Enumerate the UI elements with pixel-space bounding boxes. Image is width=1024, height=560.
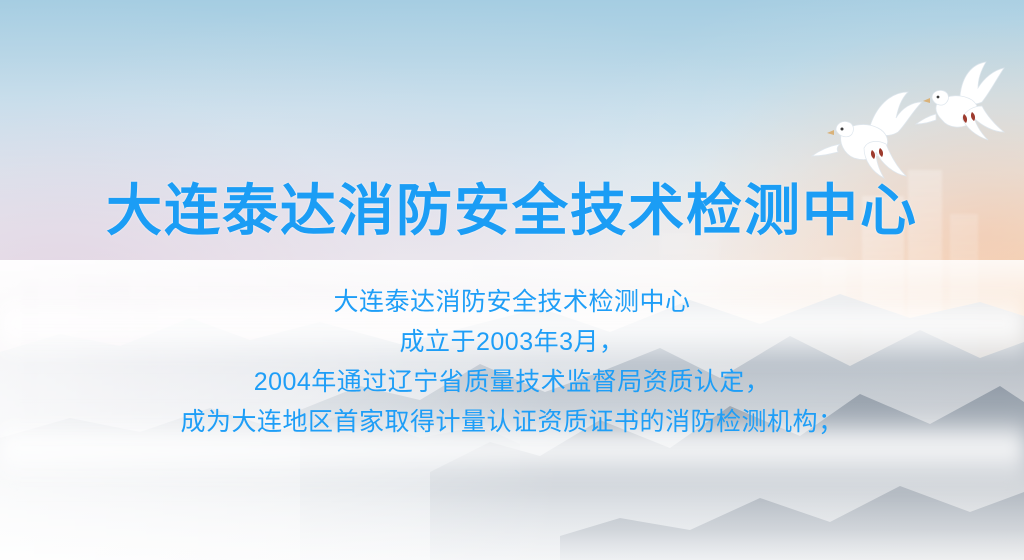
description-line-2: 成立于2003年3月， (0, 322, 1024, 362)
description-line-1: 大连泰达消防安全技术检测中心 (0, 282, 1024, 322)
description-line-4: 成为大连地区首家取得计量认证资质证书的消防检测机构； (0, 402, 1024, 442)
dove-right-icon (916, 62, 1014, 144)
description-line-3: 2004年通过辽宁省质量技术监督局资质认定， (0, 362, 1024, 402)
description-block: 大连泰达消防安全技术检测中心 成立于2003年3月， 2004年通过辽宁省质量技… (0, 282, 1024, 442)
page-title: 大连泰达消防安全技术检测中心 (0, 166, 1024, 247)
hero-banner: 大连泰达消防安全技术检测中心 大连泰达消防安全技术检测中心 成立于2003年3月… (0, 0, 1024, 560)
